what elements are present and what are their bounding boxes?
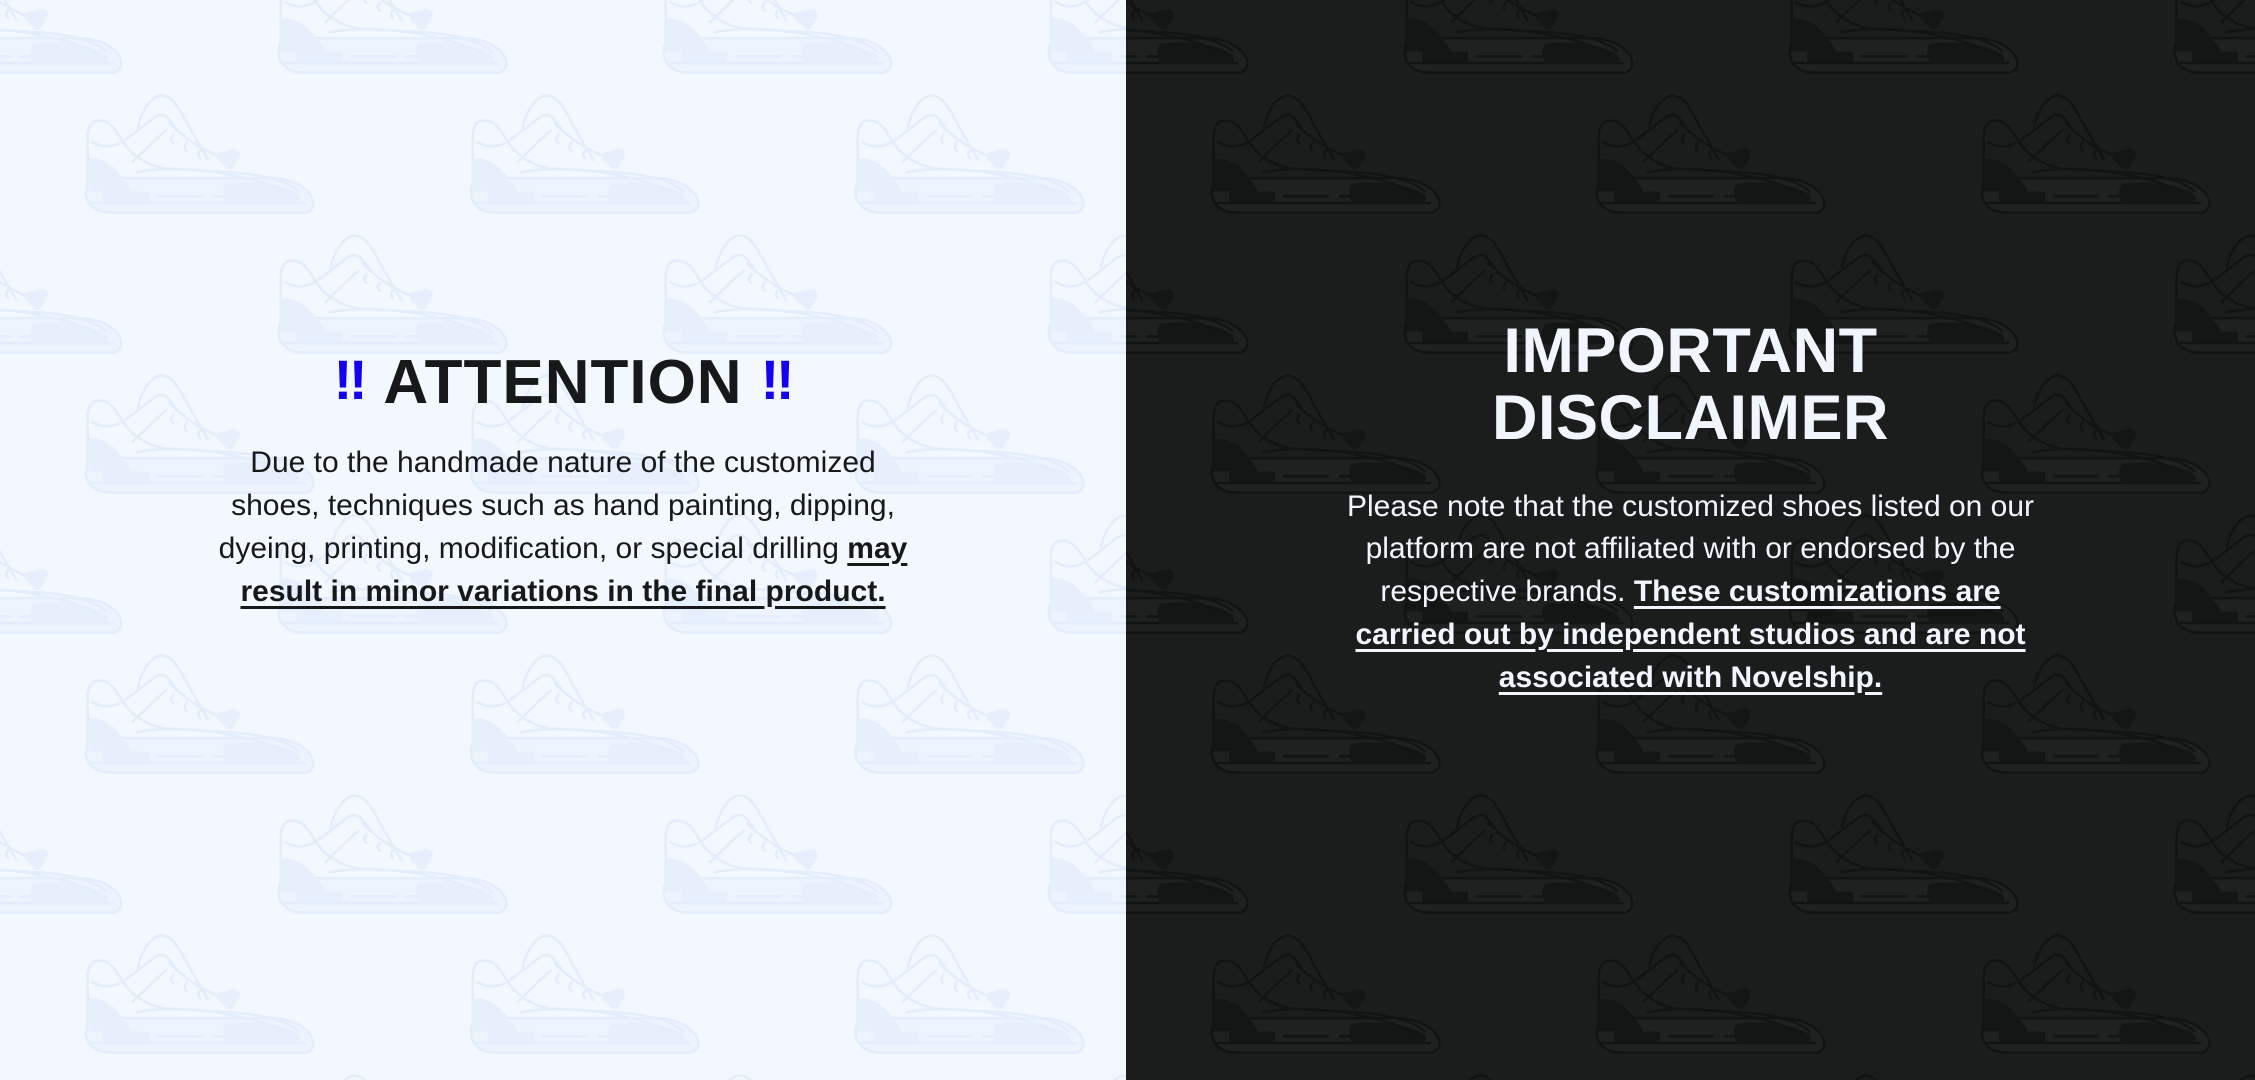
attention-heading-text: ATTENTION: [383, 348, 742, 417]
double-exclamation-right-icon: ‼: [761, 352, 793, 408]
attention-heading: ‼ATTENTION‼: [150, 352, 976, 414]
disclaimer-heading-line1: IMPORTANT: [1503, 316, 1877, 386]
attention-content: ‼ATTENTION‼ Due to the handmade nature o…: [0, 0, 1126, 614]
double-exclamation-left-icon: ‼: [334, 352, 366, 408]
disclaimer-panel: IMPORTANT DISCLAIMER Please note that th…: [1126, 0, 2255, 1080]
disclaimer-content: IMPORTANT DISCLAIMER Please note that th…: [1126, 0, 2255, 700]
disclaimer-heading-line2: DISCLAIMER: [1492, 383, 1889, 453]
disclaimer-heading: IMPORTANT DISCLAIMER: [1286, 318, 2095, 452]
disclaimer-body-text: Please note that the customized shoes li…: [1331, 486, 2051, 700]
attention-panel: ‼ATTENTION‼ Due to the handmade nature o…: [0, 0, 1126, 1080]
attention-body-normal: Due to the handmade nature of the custom…: [219, 446, 895, 565]
attention-body-text: Due to the handmade nature of the custom…: [213, 442, 913, 614]
customization-notice-banner: ‼ATTENTION‼ Due to the handmade nature o…: [0, 0, 2255, 1080]
